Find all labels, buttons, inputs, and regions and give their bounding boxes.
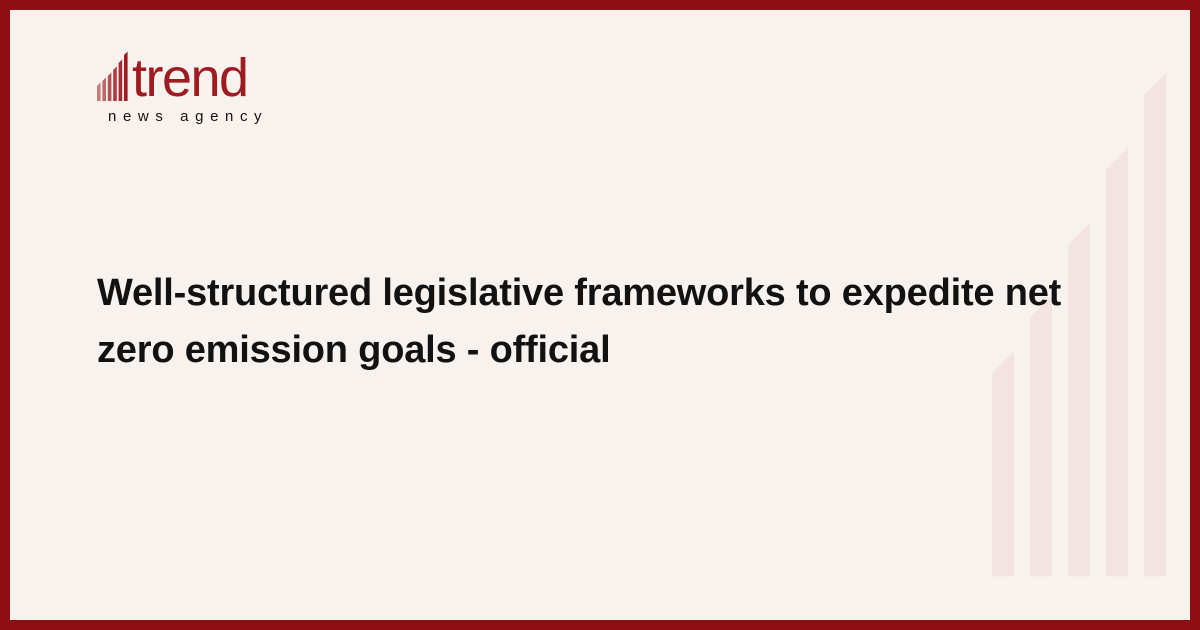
share-card: trend news agency Well-structured legisl… xyxy=(0,0,1200,630)
logo-row: trend xyxy=(97,45,248,101)
headline: Well-structured legislative frameworks t… xyxy=(97,265,1082,379)
brand-wordmark: trend xyxy=(132,53,248,103)
ascending-bars-icon xyxy=(97,51,131,101)
brand-logo[interactable]: trend news agency xyxy=(97,45,268,125)
card-canvas: trend news agency Well-structured legisl… xyxy=(10,10,1190,620)
headline-line-1: Well-structured legislative frameworks t… xyxy=(97,265,1082,322)
brand-tagline: news agency xyxy=(108,108,268,125)
headline-line-2: zero emission goals - official xyxy=(97,322,1082,379)
